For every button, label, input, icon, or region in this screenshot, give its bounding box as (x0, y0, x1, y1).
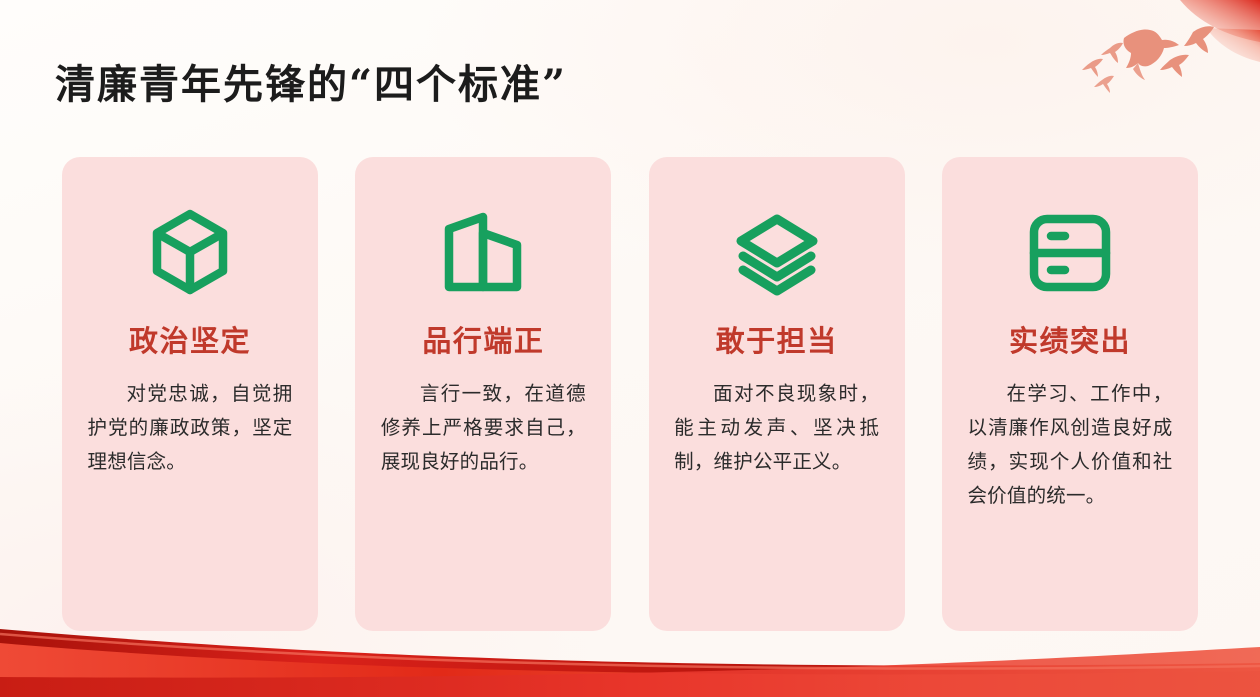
standard-card-description: 在学习、工作中，以清廉作风创造良好成绩，实现个人价值和社会价值的统一。 (967, 377, 1172, 514)
server-drawer-icon (1022, 205, 1118, 301)
birds-flock-icon (1052, 8, 1242, 104)
standard-card-title: 品行端正 (422, 327, 544, 359)
standard-card-description: 面对不良现象时，能主动发声、坚决抵制，维护公平正义。 (674, 377, 879, 479)
standard-card-description: 对党忠诚，自觉拥护党的廉政政策，坚定理想信念。 (88, 377, 293, 479)
bar-chart-building-icon (435, 205, 531, 301)
standard-card-title: 敢于担当 (716, 327, 838, 359)
standard-card-3[interactable]: 敢于担当 面对不良现象时，能主动发声、坚决抵制，维护公平正义。 (649, 157, 905, 631)
standard-card-description: 言行一致，在道德修养上严格要求自己，展现良好的品行。 (381, 377, 586, 479)
page-title: 清廉青年先锋的“四个标准” (55, 52, 567, 110)
layers-icon (729, 205, 825, 301)
standard-card-2[interactable]: 品行端正 言行一致，在道德修养上严格要求自己，展现良好的品行。 (355, 157, 611, 631)
cube-icon (142, 205, 238, 301)
standards-card-list: 政治坚定 对党忠诚，自觉拥护党的廉政政策，坚定理想信念。 品行端正 言行一致，在… (62, 157, 1198, 631)
standard-card-1[interactable]: 政治坚定 对党忠诚，自觉拥护党的廉政政策，坚定理想信念。 (62, 157, 318, 631)
top-right-ribbon-decoration (1030, 0, 1260, 120)
standard-card-4[interactable]: 实绩突出 在学习、工作中，以清廉作风创造良好成绩，实现个人价值和社会价值的统一。 (942, 157, 1198, 631)
slide-canvas: 清廉青年先锋的“四个标准” 政治坚定 对党忠诚，自觉拥护党的廉政政策，坚定理想信… (0, 0, 1260, 697)
standard-card-title: 实绩突出 (1009, 327, 1131, 359)
standard-card-title: 政治坚定 (129, 327, 251, 359)
